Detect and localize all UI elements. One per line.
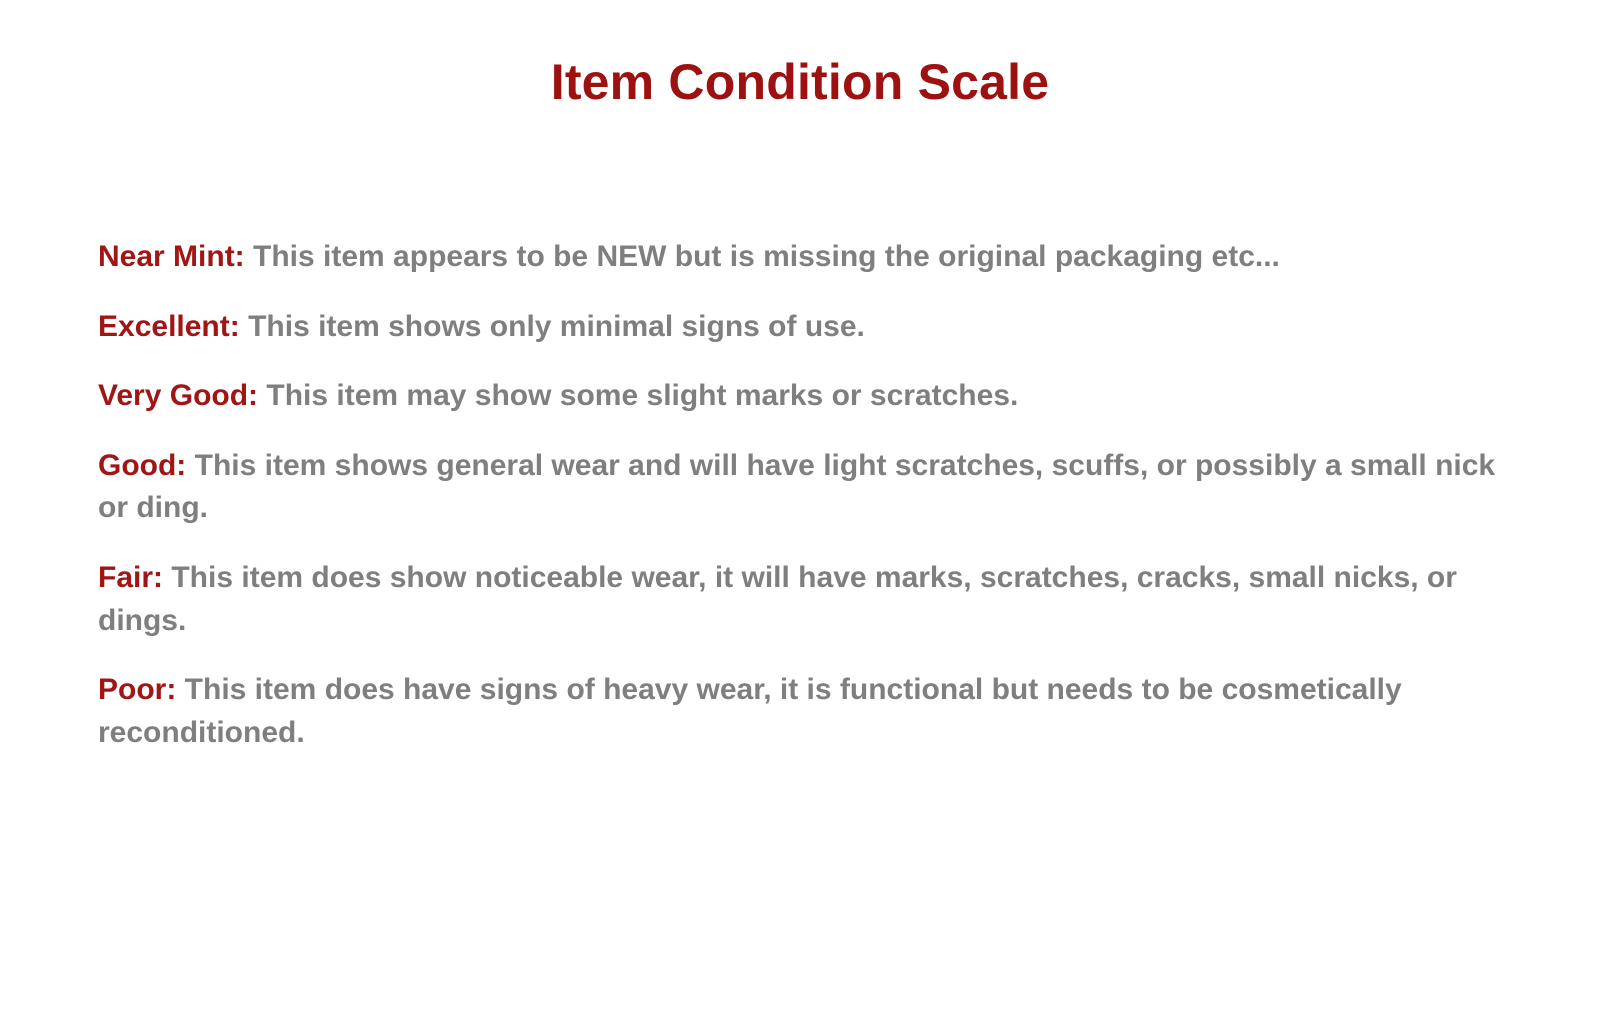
condition-label-fair: Fair: (98, 561, 163, 594)
condition-description-good: This item shows general wear and will ha… (98, 449, 1495, 525)
condition-label-near-mint: Near Mint: (98, 240, 245, 273)
condition-label-excellent: Excellent: (98, 310, 240, 343)
list-item: Poor: This item does have signs of heavy… (98, 669, 1518, 754)
condition-description-near-mint: This item appears to be NEW but is missi… (253, 240, 1280, 273)
condition-description-very-good: This item may show some slight marks or … (266, 379, 1018, 412)
list-item: Very Good: This item may show some sligh… (98, 375, 1518, 418)
condition-description-excellent: This item shows only minimal signs of us… (248, 310, 865, 343)
condition-label-very-good: Very Good: (98, 379, 258, 412)
list-item: Good: This item shows general wear and w… (98, 445, 1518, 530)
condition-label-poor: Poor: (98, 673, 176, 706)
condition-description-poor: This item does have signs of heavy wear,… (98, 673, 1402, 749)
list-item: Fair: This item does show noticeable wea… (98, 557, 1518, 642)
list-item: Excellent: This item shows only minimal … (98, 306, 1518, 349)
slide-canvas: Item Condition Scale Near Mint: This ite… (0, 0, 1600, 1011)
page-title: Item Condition Scale (0, 54, 1600, 112)
condition-list: Near Mint: This item appears to be NEW b… (98, 236, 1518, 754)
list-item: Near Mint: This item appears to be NEW b… (98, 236, 1518, 279)
condition-description-fair: This item does show noticeable wear, it … (98, 561, 1457, 637)
condition-label-good: Good: (98, 449, 186, 482)
